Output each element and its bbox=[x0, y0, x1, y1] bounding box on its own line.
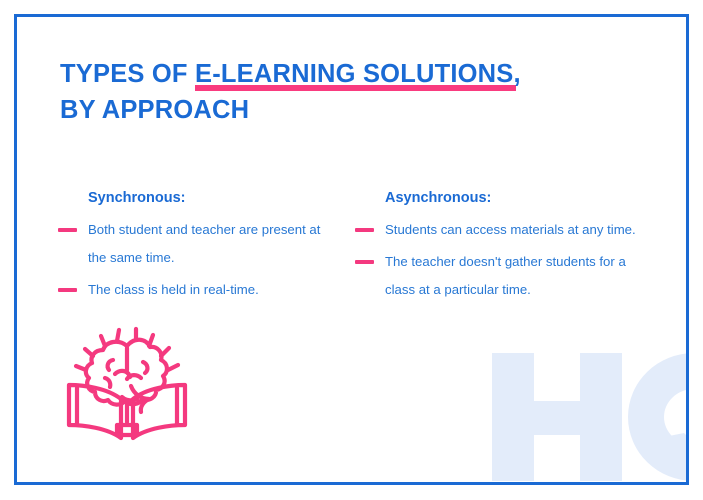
list-item-text: The class is held in real-time. bbox=[88, 282, 259, 297]
bullet-list-asynchronous: Students can access materials at any tim… bbox=[355, 216, 655, 304]
column-asynchronous: Asynchronous: Students can access materi… bbox=[355, 188, 655, 308]
list-item-text: Both student and teacher are present at … bbox=[88, 222, 320, 265]
list-item: Students can access materials at any tim… bbox=[355, 216, 655, 244]
dash-bullet-icon bbox=[58, 228, 77, 232]
slide-canvas: TYPES OF E-LEARNING SOLUTIONS, BY APPROA… bbox=[0, 0, 703, 500]
title-prefix: TYPES OF bbox=[60, 60, 195, 88]
dash-bullet-icon bbox=[58, 288, 77, 292]
title-line-2: BY APPROACH bbox=[60, 92, 640, 128]
hq-watermark bbox=[488, 347, 686, 482]
page-title: TYPES OF E-LEARNING SOLUTIONS, BY APPROA… bbox=[60, 56, 640, 128]
title-suffix: , bbox=[514, 60, 521, 88]
column-heading-synchronous: Synchronous: bbox=[88, 188, 333, 208]
bullet-list-synchronous: Both student and teacher are present at … bbox=[58, 216, 333, 304]
list-item-text: Students can access materials at any tim… bbox=[385, 222, 636, 237]
brain-book-icon bbox=[57, 318, 197, 448]
column-synchronous: Synchronous: Both student and teacher ar… bbox=[58, 188, 333, 308]
list-item: The teacher doesn't gather students for … bbox=[355, 248, 655, 304]
title-highlighted-phrase: E-LEARNING SOLUTIONS bbox=[195, 56, 514, 92]
dash-bullet-icon bbox=[355, 260, 374, 264]
title-line-1: TYPES OF E-LEARNING SOLUTIONS, bbox=[60, 56, 640, 92]
list-item: The class is held in real-time. bbox=[58, 276, 333, 304]
column-heading-asynchronous: Asynchronous: bbox=[385, 188, 655, 208]
dash-bullet-icon bbox=[355, 228, 374, 232]
list-item-text: The teacher doesn't gather students for … bbox=[385, 254, 626, 297]
list-item: Both student and teacher are present at … bbox=[58, 216, 333, 272]
title-highlight-text: E-LEARNING SOLUTIONS bbox=[195, 60, 514, 88]
